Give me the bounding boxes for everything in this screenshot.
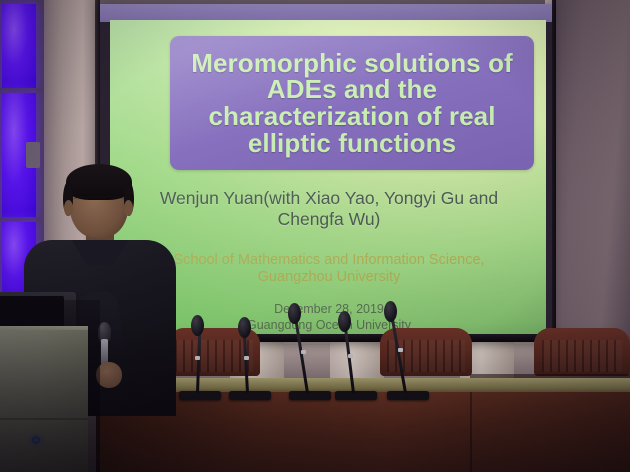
blue-light-panel-top bbox=[2, 4, 36, 88]
slide-title: Meromorphic solutions of ADEs and the ch… bbox=[170, 50, 534, 156]
podium bbox=[0, 330, 88, 472]
microphone-ring bbox=[244, 356, 249, 360]
microphone-head bbox=[338, 311, 351, 332]
microphone-head bbox=[288, 303, 301, 324]
chair-shading bbox=[534, 328, 630, 376]
microphone-ring bbox=[301, 350, 306, 354]
slide-affiliation: School of Mathematics and Information Sc… bbox=[154, 252, 504, 286]
microphone-base bbox=[387, 391, 429, 400]
presentation-photo: Meromorphic solutions of ADEs and the ch… bbox=[0, 0, 630, 472]
slide-title-box: Meromorphic solutions of ADEs and the ch… bbox=[170, 36, 534, 170]
table-seam bbox=[470, 392, 472, 472]
podium-panel-line bbox=[0, 418, 88, 420]
microphone-ring bbox=[398, 348, 403, 352]
presenter-brow bbox=[74, 196, 124, 209]
microphone-base bbox=[179, 391, 221, 400]
microphone-head bbox=[384, 301, 397, 322]
presenter-hand bbox=[96, 362, 122, 388]
microphone-head bbox=[238, 317, 251, 338]
presenter-ear-right bbox=[124, 200, 133, 216]
presenter-ear-left bbox=[64, 200, 73, 216]
right-wall bbox=[556, 0, 630, 352]
microphone-head bbox=[191, 315, 204, 336]
microphone-ring bbox=[195, 356, 200, 360]
presenter-hair bbox=[66, 164, 132, 200]
microphone-ring bbox=[348, 354, 353, 358]
slide-date: December 28, 2019 bbox=[174, 302, 484, 318]
microphone-base bbox=[335, 391, 377, 400]
microphone-base bbox=[289, 391, 331, 400]
pillar-mid bbox=[330, 336, 384, 384]
panel-latch bbox=[26, 142, 40, 168]
podium-indicator-light bbox=[32, 436, 40, 444]
chair bbox=[534, 328, 630, 376]
microphone-base bbox=[229, 391, 271, 400]
slide-authors: Wenjun Yuan(with Xiao Yao, Yongyi Gu and… bbox=[144, 188, 514, 230]
